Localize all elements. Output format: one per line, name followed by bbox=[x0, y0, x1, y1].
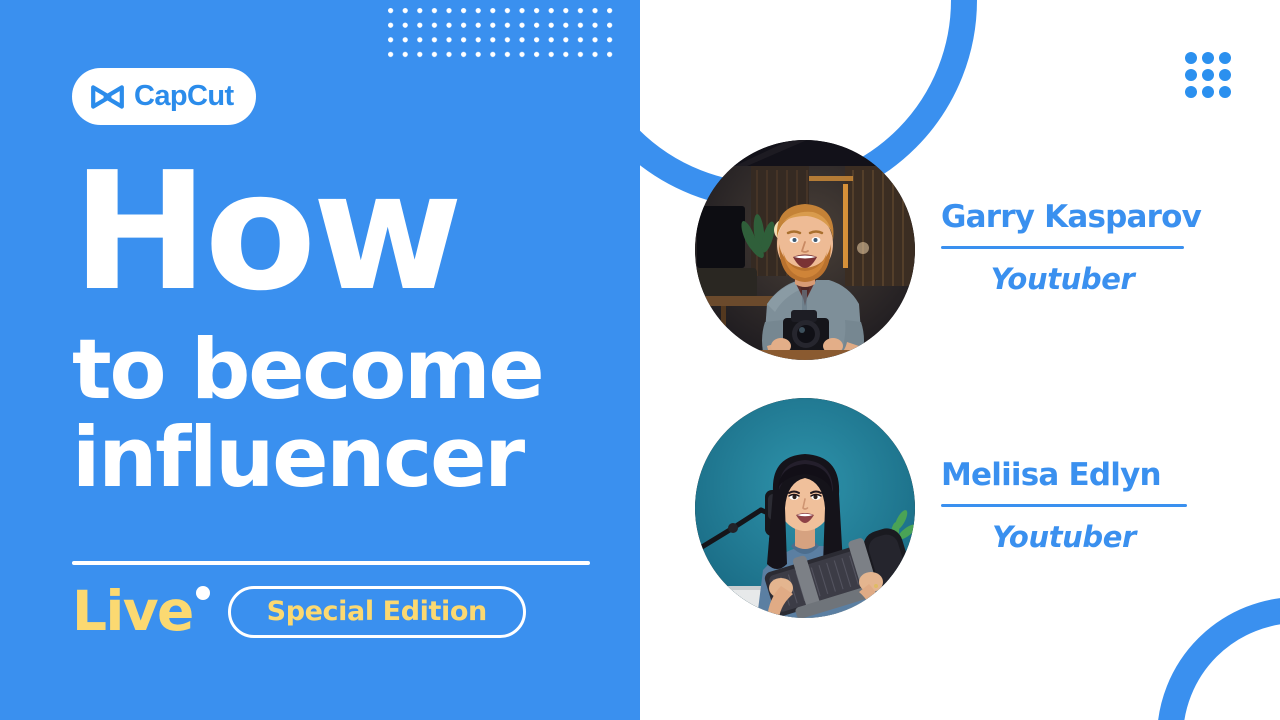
dot-grid-icon-white bbox=[388, 8, 616, 60]
special-edition-badge[interactable]: Special Edition bbox=[228, 586, 526, 638]
speaker-card-1[interactable]: Garry Kasparov Youtuber bbox=[695, 140, 1201, 360]
headline-line-1: How bbox=[72, 166, 543, 300]
speaker-info: Garry Kasparov Youtuber bbox=[941, 200, 1201, 300]
promo-poster: CapCut How to become influencer Live Spe… bbox=[0, 0, 1280, 720]
page-title: How to become influencer bbox=[72, 166, 543, 502]
speaker-name: Garry Kasparov bbox=[941, 200, 1201, 236]
name-underline-rule bbox=[941, 246, 1184, 249]
avatar bbox=[695, 398, 915, 618]
speaker-name: Meliisa Edlyn bbox=[941, 458, 1187, 494]
capcut-logo[interactable]: CapCut bbox=[72, 68, 256, 125]
name-underline-rule bbox=[941, 504, 1187, 507]
dot-grid-icon-blue bbox=[1185, 52, 1231, 98]
speaker-card-2[interactable]: Meliisa Edlyn Youtuber bbox=[695, 398, 1187, 618]
capcut-wordmark: CapCut bbox=[134, 82, 234, 111]
headline-line-3: influencer bbox=[72, 414, 543, 502]
capcut-bowtie-icon bbox=[90, 83, 125, 111]
live-badge-row: Live Special Edition bbox=[72, 584, 526, 639]
horizontal-rule-icon bbox=[72, 561, 590, 565]
live-label: Live bbox=[72, 579, 193, 643]
speaker-role: Youtuber bbox=[941, 523, 1187, 552]
special-edition-label: Special Edition bbox=[267, 598, 487, 625]
speaker-info: Meliisa Edlyn Youtuber bbox=[941, 458, 1187, 558]
headline-line-2: to become bbox=[72, 326, 543, 414]
avatar bbox=[695, 140, 915, 360]
speaker-role: Youtuber bbox=[941, 265, 1184, 294]
live-badge: Live bbox=[72, 584, 193, 639]
live-indicator-dot-icon bbox=[196, 586, 210, 600]
